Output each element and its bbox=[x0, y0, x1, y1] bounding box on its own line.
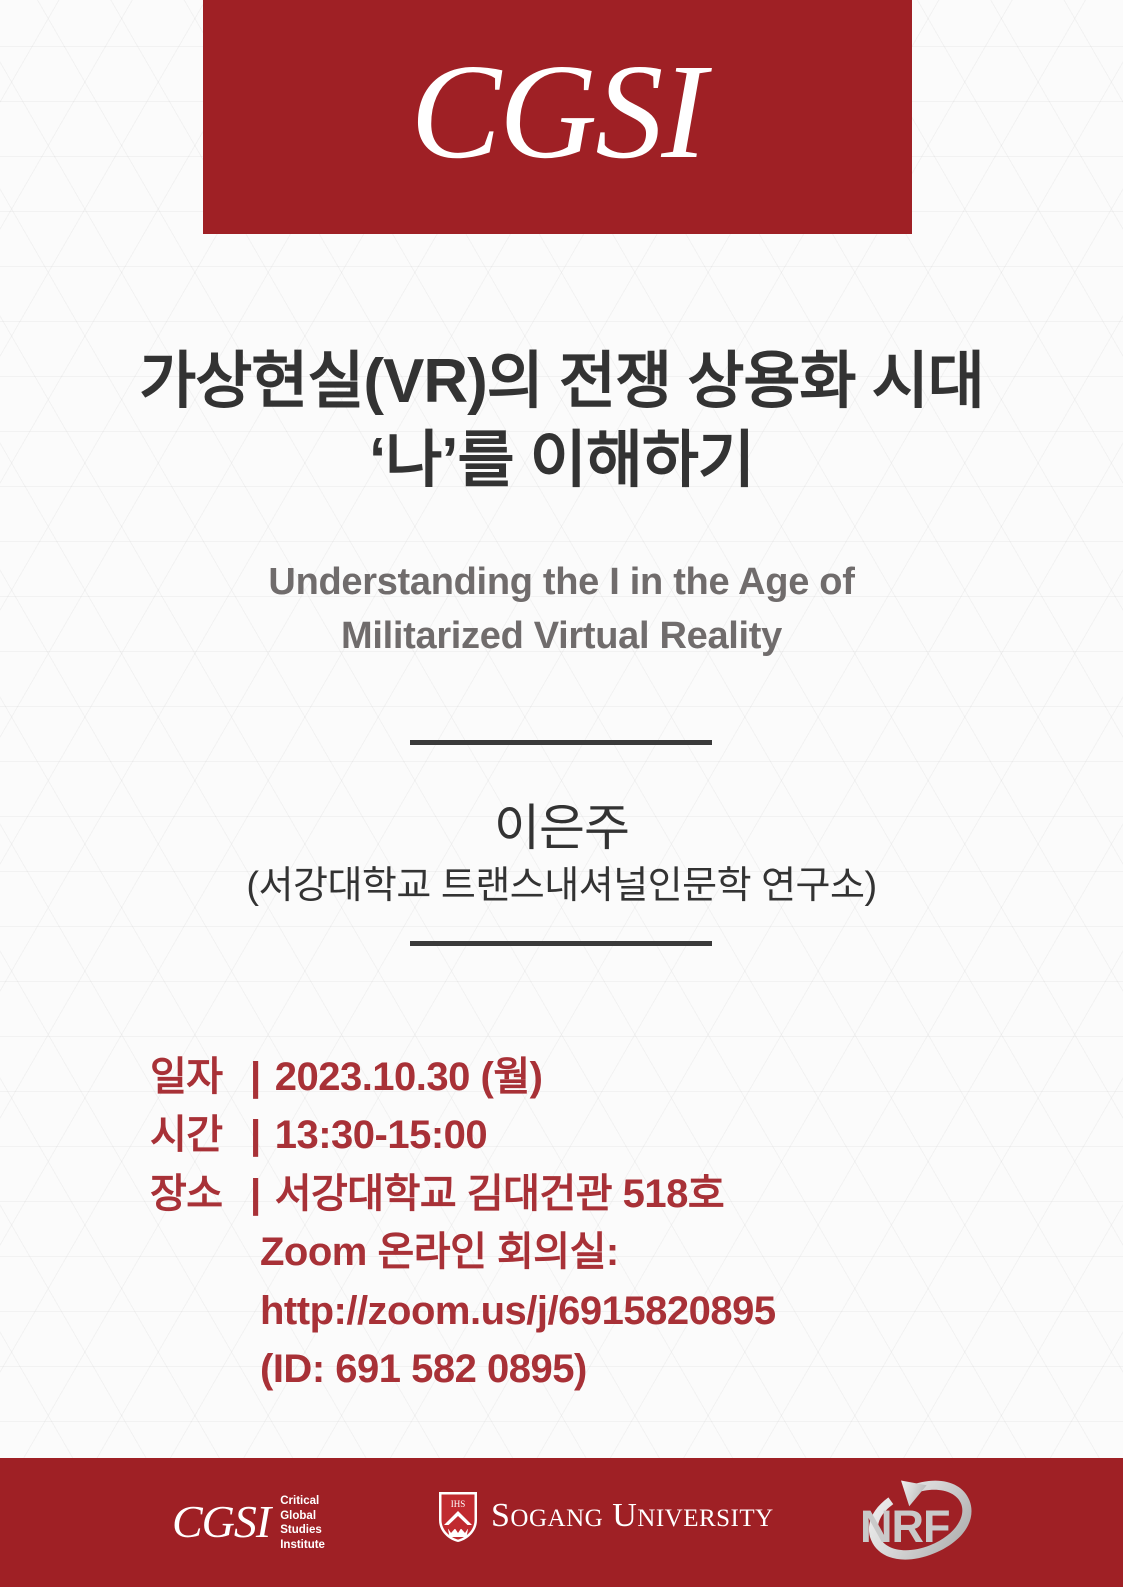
footer-sogang-logo: IHS SOGANG UNIVERSITY bbox=[437, 1490, 774, 1544]
subtitle-line-1: Understanding the I in the Age of bbox=[0, 556, 1123, 610]
zoom-room-label: Zoom 온라인 회의실: bbox=[150, 1223, 1010, 1281]
cgsi-tagline-line-4: Institute bbox=[280, 1538, 325, 1553]
speaker-affiliation: (서강대학교 트랜스내셔널인문학 연구소) bbox=[0, 854, 1123, 909]
sogang-shield-ihs-text: IHS bbox=[451, 1499, 466, 1509]
cgsi-tagline-line-3: Studies bbox=[280, 1523, 325, 1538]
title-line-2: ‘나’를 이해하기 bbox=[0, 421, 1123, 500]
page-subtitle: Understanding the I in the Age of Milita… bbox=[0, 556, 1123, 664]
footer-cgsi-tagline: Critical Global Studies Institute bbox=[280, 1492, 325, 1553]
detail-row-venue: 장소 | 서강대학교 김대건관 518호 bbox=[150, 1165, 1010, 1223]
detail-separator: | bbox=[246, 1165, 275, 1223]
sogang-wordmark-s: S bbox=[491, 1497, 510, 1534]
sogang-shield-crest-icon: IHS bbox=[437, 1490, 479, 1544]
detail-value-time: 13:30-15:00 bbox=[275, 1106, 487, 1164]
divider-rule-bottom bbox=[410, 941, 712, 946]
sogang-wordmark-niversity: NIVERSITY bbox=[637, 1505, 773, 1532]
header-red-band: CGSI bbox=[203, 0, 912, 234]
detail-label-date: 일자 bbox=[150, 1048, 246, 1106]
sogang-wordmark: SOGANG UNIVERSITY bbox=[491, 1499, 774, 1535]
detail-label-time: 시간 bbox=[150, 1106, 246, 1164]
cgsi-tagline-line-2: Global bbox=[280, 1509, 325, 1524]
detail-value-venue: 서강대학교 김대건관 518호 bbox=[275, 1165, 724, 1223]
detail-separator: | bbox=[246, 1106, 275, 1164]
detail-label-venue: 장소 bbox=[150, 1165, 246, 1223]
footer-nrf-logo: NRF bbox=[856, 1474, 986, 1570]
zoom-meeting-id: (ID: 691 582 0895) bbox=[150, 1340, 1010, 1398]
detail-row-date: 일자 | 2023.10.30 (월) bbox=[150, 1048, 1010, 1106]
footer-cgsi-wordmark: CGSI bbox=[172, 1499, 270, 1545]
detail-separator: | bbox=[246, 1048, 275, 1106]
cgsi-tagline-line-1: Critical bbox=[280, 1494, 325, 1509]
title-line-1: 가상현실(VR)의 전쟁 상용화 시대 bbox=[0, 342, 1123, 421]
detail-row-time: 시간 | 13:30-15:00 bbox=[150, 1106, 1010, 1164]
nrf-letters: NRF bbox=[860, 1504, 949, 1549]
sogang-wordmark-u: U bbox=[612, 1497, 637, 1534]
zoom-meeting-link[interactable]: http://zoom.us/j/6915820895 bbox=[150, 1282, 1010, 1340]
page-title: 가상현실(VR)의 전쟁 상용화 시대 ‘나’를 이해하기 bbox=[0, 342, 1123, 501]
poster-canvas: CGSI 가상현실(VR)의 전쟁 상용화 시대 ‘나’를 이해하기 Under… bbox=[0, 0, 1123, 1587]
detail-value-date: 2023.10.30 (월) bbox=[275, 1048, 543, 1106]
divider-rule-top bbox=[410, 740, 712, 745]
cgsi-logo-wordmark: CGSI bbox=[410, 44, 704, 190]
sogang-wordmark-ogang: OGANG bbox=[510, 1505, 603, 1532]
event-details: 일자 | 2023.10.30 (월) 시간 | 13:30-15:00 장소 … bbox=[150, 1048, 1010, 1398]
footer-cgsi-logo: CGSI Critical Global Studies Institute bbox=[172, 1492, 325, 1553]
speaker-name: 이은주 bbox=[0, 788, 1123, 860]
subtitle-line-2: Militarized Virtual Reality bbox=[0, 610, 1123, 664]
